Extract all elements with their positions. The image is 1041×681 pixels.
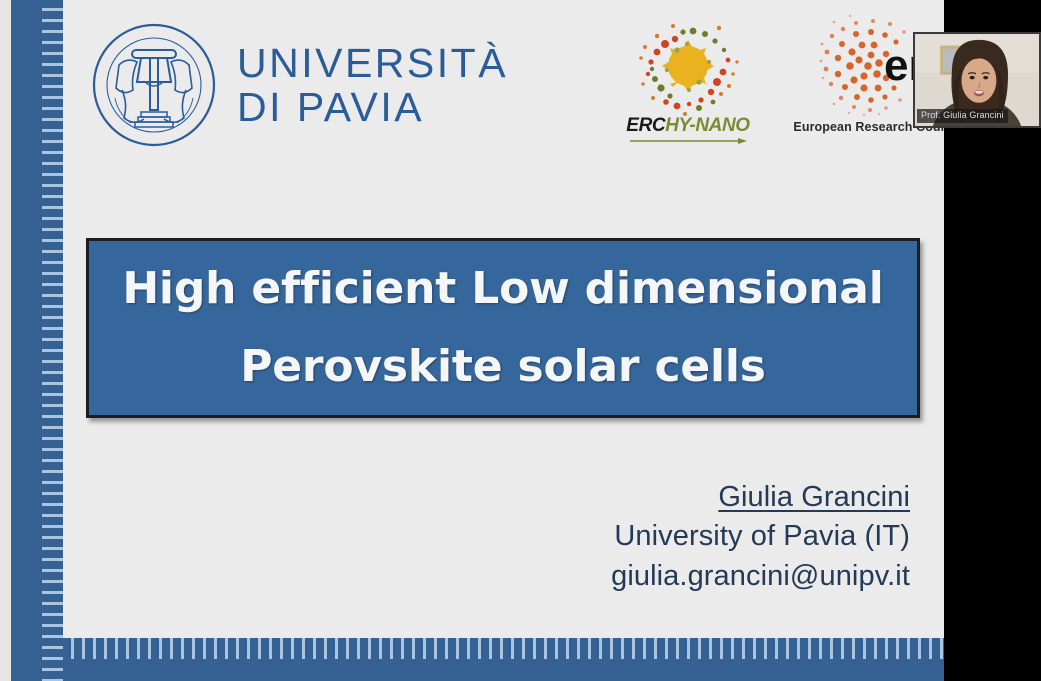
author-name: Giulia Grancini	[611, 478, 910, 517]
university-name-line1: UNIVERSITÀ	[237, 40, 508, 86]
slide-left-striped-bar	[42, 0, 63, 681]
webcam-participant-name: Prof. Giulia Grancini	[917, 109, 1008, 123]
university-seal-icon	[89, 20, 219, 150]
slide-left-inner-gap	[63, 0, 73, 681]
author-affiliation: University of Pavia (IT)	[611, 517, 910, 556]
erc-hy-nano-prefix: ERC	[626, 115, 665, 136]
slide-left-accent-bar	[11, 0, 42, 681]
arrow-right-icon	[628, 138, 748, 144]
author-email: giulia.grancini@unipv.it	[611, 557, 910, 596]
slide-bottom-ticks	[63, 638, 944, 659]
presentation-video-stage: UNIVERSITÀDI PAVIA	[0, 0, 1041, 681]
university-name: UNIVERSITÀDI PAVIA	[237, 41, 508, 130]
erc-hy-nano-suffix: HY-NANO	[665, 115, 749, 136]
spiral-sun-dots-icon	[627, 14, 749, 118]
slide-title-line-1: High efficient Low dimensional	[122, 267, 883, 311]
presentation-slide: UNIVERSITÀDI PAVIA	[0, 0, 944, 681]
slide-left-gutter	[0, 0, 11, 681]
slide-bottom-accent-band	[63, 638, 944, 681]
slide-author-block: Giulia Grancini University of Pavia (IT)…	[611, 478, 910, 596]
slide-logo-row: UNIVERSITÀDI PAVIA	[73, 0, 944, 175]
slide-title-box: High efficient Low dimensional Perovskit…	[86, 238, 920, 418]
university-name-line2: DI PAVIA	[237, 84, 424, 130]
speaker-webcam-tile[interactable]: Prof. Giulia Grancini	[913, 32, 1041, 128]
slide-title-line-2: Perovskite solar cells	[240, 345, 766, 389]
erc-hy-nano-logo: ERCHY-NANO	[613, 14, 763, 144]
university-logo: UNIVERSITÀDI PAVIA	[89, 20, 508, 150]
erc-hy-nano-wordmark: ERCHY-NANO	[613, 115, 763, 137]
